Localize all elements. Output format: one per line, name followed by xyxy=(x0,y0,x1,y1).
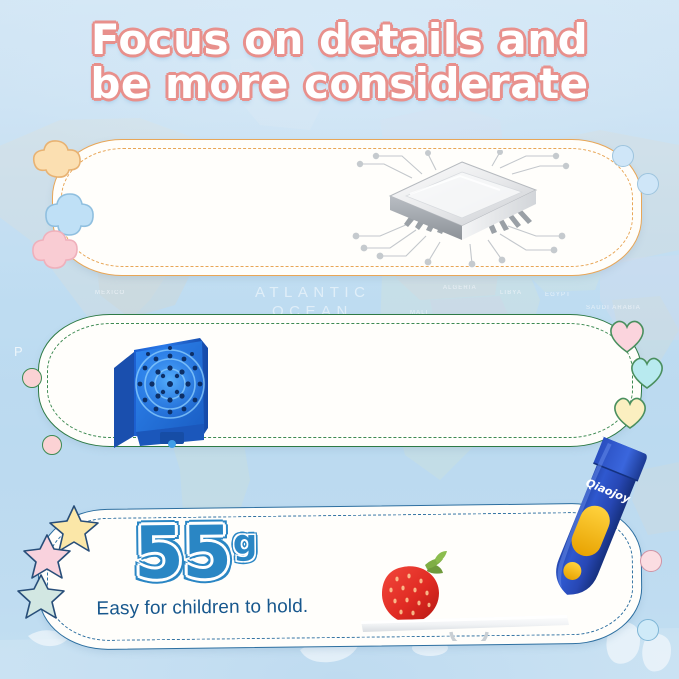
speaker-module-image xyxy=(104,332,226,456)
microchip-image xyxy=(350,150,570,268)
map-label-libya: LIBYA xyxy=(500,290,522,296)
circle-blue-bottom-decor xyxy=(637,173,659,195)
title-line-1: Focus on details and xyxy=(0,18,679,62)
map-label-atlantic: ATLANTIC xyxy=(255,284,370,301)
map-label-egypt: EGYPT xyxy=(545,292,571,298)
circle-blue-top-decor xyxy=(612,145,634,167)
map-label-algeria: ALGERIA xyxy=(443,285,477,291)
map-label-saudi-arabia: SAUDI ARABIA xyxy=(586,305,641,311)
title-line-2: be more considerate xyxy=(0,62,679,106)
circle-cyan-right-decor xyxy=(637,619,659,641)
weight-number: 55 xyxy=(133,519,230,586)
weight-block: 55g Easy for children to hold. xyxy=(133,518,308,620)
circle-pink-lower-decor xyxy=(42,435,62,455)
circle-pink-upper-decor xyxy=(22,368,42,388)
reading-pen-image: Qiaojoy xyxy=(525,432,655,612)
map-label-p: P xyxy=(14,344,24,359)
weight-unit: g xyxy=(233,523,258,563)
infographic-page: ATLANTIC OCEAN MEXICO ALGERIA LIBYA EGYP… xyxy=(0,0,679,679)
weight-caption: Easy for children to hold. xyxy=(96,596,308,621)
map-label-mexico: MEXICO xyxy=(95,290,125,296)
page-title: Focus on details and be more considerate xyxy=(0,18,679,105)
